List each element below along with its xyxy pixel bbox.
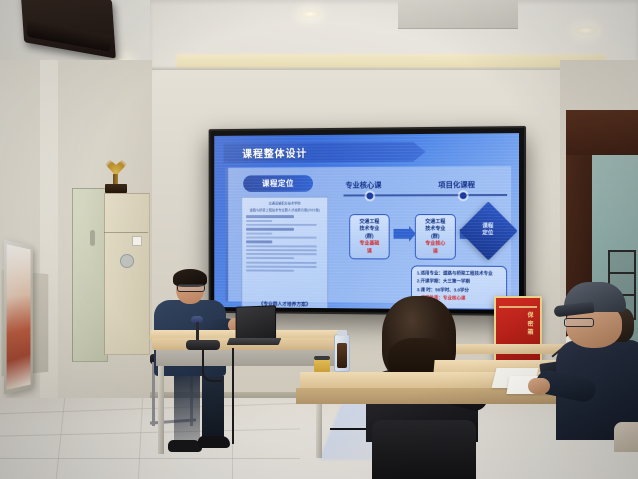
storage-locker [72,188,108,362]
red-case-label: 保密箱 [526,312,535,338]
flow-box-2-line: (群) [431,234,439,240]
glasses-icon [564,318,594,327]
flow-box-1-line: 课 [367,248,372,254]
door-header [566,110,638,158]
attendee-woman-chair[interactable] [372,420,476,479]
flow-box-2-line: 技术专业 [425,226,445,232]
slide-title: 课程整体设计 [242,145,307,160]
slide-timeline: 专业核心课 项目化课程 [343,194,507,196]
microphone-stem [196,322,199,342]
attendee-man-hand [528,378,550,394]
wall-picture [4,240,33,395]
flow-box-2: 交通工程 技术专业 (群) 专业核心 课 [415,214,456,260]
document-line [246,216,294,218]
flow-result-line-2: 定位 [483,231,494,237]
flow-box-1-line: 技术专业 [359,226,379,232]
laptop-keyboard[interactable] [227,338,282,345]
document-line [246,257,294,259]
document-line [246,245,317,247]
document-line [246,228,294,230]
ceiling-cove-light [176,54,606,68]
slide-section-pill-label: 课程定位 [262,178,294,189]
attendee-man-shoulder-bag [614,422,638,452]
presenter-shoe [198,436,230,448]
presenter-shoe [168,440,202,452]
glasses-icon [177,284,205,292]
document-line [246,249,317,251]
document-line [246,224,317,226]
cabinet-label-tag [132,236,142,246]
document-line [246,220,272,222]
document-header: 交通运输职业技术学院 [246,201,323,206]
presenter-leg [202,376,224,442]
cable [202,350,222,382]
ceiling-downlight [300,10,320,18]
cabinet-badge [120,254,134,268]
flow-result-diamond: 课程 定位 [459,201,518,260]
timeline-label-1: 专业核心课 [345,180,381,191]
slide-surface: 课程整体设计 课程定位 专业核心课 项目化课程 交通运输职业技术学院 道路与桥梁… [214,133,519,310]
attendee-man-cap [560,282,638,442]
air-conditioning-vent [398,0,518,29]
document-line [246,261,317,263]
flow-box-2-line: 专业核心 [425,241,445,247]
timeline-node-2 [460,192,467,199]
flow-result-line-1: 课程 [483,224,494,230]
document-subheader: 道路与桥梁工程技术专业群人才培养方案(2021版) [246,208,323,213]
document-line [246,253,317,255]
document-line [246,270,294,272]
meeting-room-photo: 课程整体设计 课程定位 专业核心课 项目化课程 交通运输职业技术学院 道路与桥梁… [0,0,638,479]
flow-box-2-line: 课 [433,248,438,254]
timeline-label-2: 项目化课程 [438,179,475,190]
slide-body: 课程定位 专业核心课 项目化课程 交通运输职业技术学院 道路与桥梁工程技术专业群… [225,166,511,304]
flow-box-1-line: 专业基础 [359,241,379,247]
flow-box-1-line: 交通工程 [359,219,379,225]
document-line [246,265,317,267]
flow-box-1-line: (群) [365,234,373,240]
slide-document-pane: 交通运输职业技术学院 道路与桥梁工程技术专业群人才培养方案(2021版) [241,197,328,310]
flow-box-1: 交通工程 技术专业 (群) 专业基础 课 [349,214,389,259]
locker-handle[interactable] [90,230,95,246]
ceiling-downlight [575,26,597,35]
document-line [246,241,272,243]
trophy-base [105,184,127,193]
front-desk-apron [156,350,336,366]
desk-leg [158,366,164,454]
presenter-leg [174,372,200,446]
wall-picture-glare [4,240,33,395]
led-display-screen[interactable]: 课程整体设计 课程定位 专业核心课 项目化课程 交通运输职业技术学院 道路与桥梁… [209,126,526,316]
flow-result-label: 课程 定位 [483,224,494,238]
equipment-cabinet [104,193,150,355]
cable [232,348,234,444]
floor-tile-line [0,458,300,459]
document-line [246,233,272,235]
bottle-cap [337,330,347,336]
document-line [246,237,317,239]
desk-microphone[interactable] [186,340,220,350]
slide-section-pill: 课程定位 [243,175,313,192]
slide-title-banner: 课程整体设计 [224,142,426,163]
tea-bottle [334,334,350,372]
bottle-contents [337,343,347,368]
flow-box-2-line: 交通工程 [425,219,445,225]
timeline-node-1 [367,192,374,199]
flow-arrow-1-icon [394,229,410,239]
cabinet-seam [104,232,148,233]
